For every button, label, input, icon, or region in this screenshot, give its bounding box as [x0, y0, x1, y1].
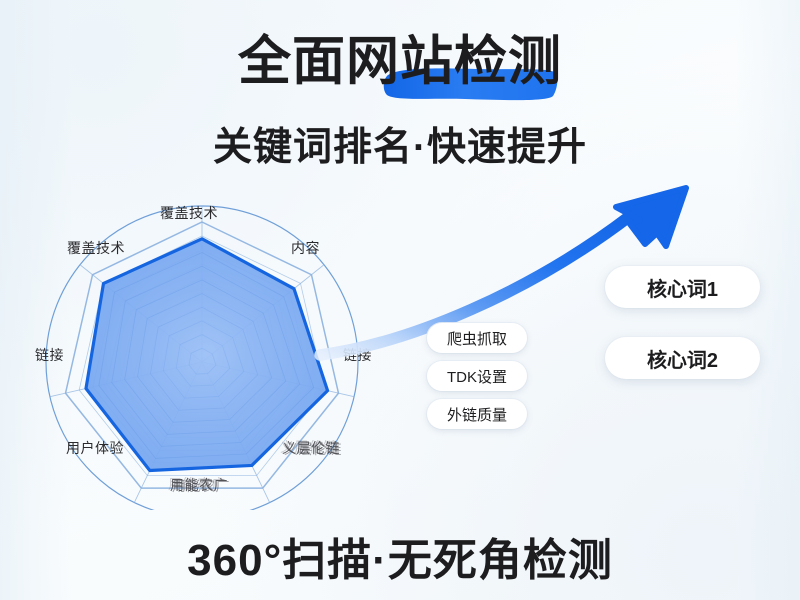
- radar-axis-label-lower-right: 义层伦链: [282, 438, 340, 458]
- keyword-tag-1-label: 核心词1: [647, 273, 718, 302]
- scan-tag-crawl[interactable]: 爬虫抓取: [427, 323, 527, 353]
- radar-axis-label-top: 覆盖技术: [160, 203, 218, 223]
- radar-chart: 覆盖技术 内容 链接 义层伦链 用能农广 用户体验 链接 覆盖技术: [18, 190, 418, 510]
- keyword-tag-1[interactable]: 核心词1: [605, 266, 760, 308]
- radar-axis-label-lower-left: 用户体验: [66, 438, 124, 458]
- footer-headline-container: 360°扫描·无死角检测: [0, 524, 800, 588]
- headline-text: 全面网站检测: [238, 32, 562, 91]
- arrow-head: [616, 188, 686, 246]
- subheadline-container: 关键词排名·快速提升: [0, 116, 800, 172]
- keyword-tag-2[interactable]: 核心词2: [605, 337, 760, 379]
- radar-axis-label-right: 链接: [343, 345, 372, 365]
- scan-tag-tdk-label: TDK设置: [447, 366, 507, 387]
- page-title: 全面网站检测: [238, 34, 562, 89]
- radar-axis-label-left: 链接: [35, 345, 64, 365]
- scan-tag-tdk[interactable]: TDK设置: [427, 361, 527, 391]
- footer-headline: 360°扫描·无死角检测: [187, 524, 613, 588]
- page-subtitle: 关键词排名·快速提升: [213, 116, 587, 172]
- headline-container: 全面网站检测: [0, 34, 800, 89]
- scan-tag-crawl-label: 爬虫抓取: [447, 328, 507, 349]
- keyword-tag-2-label: 核心词2: [647, 344, 718, 373]
- poster-canvas: 全面网站检测 关键词排名·快速提升 覆盖技术 内容 链接 义层伦链 用能农广 用…: [0, 0, 800, 600]
- radar-axis-label-upper-right: 内容: [291, 238, 320, 258]
- radar-axis-label-upper-left: 覆盖技术: [67, 238, 125, 258]
- radar-axis-label-bottom: 用能农广: [170, 475, 228, 495]
- scan-tag-backlink-label: 外链质量: [447, 404, 507, 425]
- radar-series-polygon: [86, 239, 328, 471]
- scan-tag-backlink[interactable]: 外链质量: [427, 399, 527, 429]
